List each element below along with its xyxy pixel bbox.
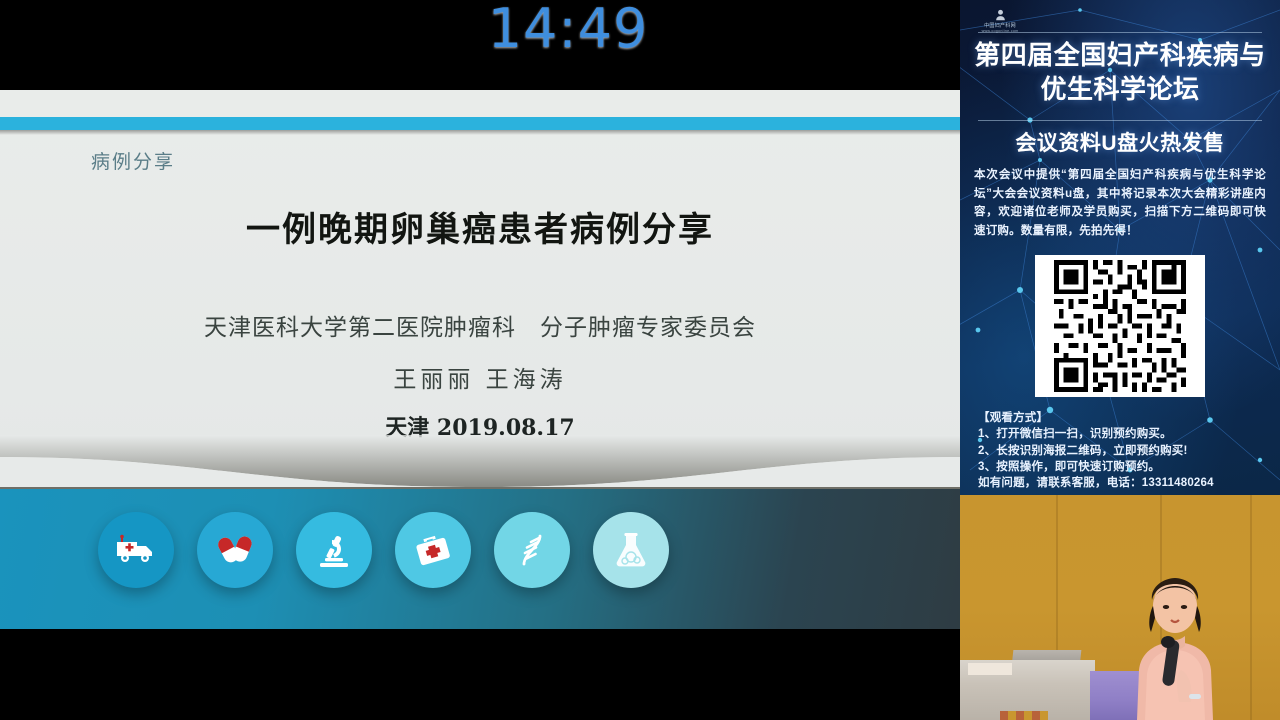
how-to-line: 2、长按识别海报二维码，立即预约购买! <box>978 443 1274 459</box>
slide-kicker: 病例分享 <box>91 147 175 174</box>
ambulance-icon <box>98 512 174 588</box>
stream-page: 病例分享 一例晚期卵巢癌患者病例分享 天津医科大学第二医院肿瘤科 分子肿瘤专家委… <box>0 0 1280 720</box>
slide-organization: 天津医科大学第二医院肿瘤科 分子肿瘤专家委员会 <box>0 308 960 342</box>
podium-decor <box>1000 711 1048 720</box>
first-aid-kit-icon <box>395 512 471 588</box>
slide-accent-rule <box>0 117 960 130</box>
promo-poster: 中国妇产科网 www.cogonline.com 第四届全国妇产科疾病与优生科学… <box>960 0 1280 495</box>
logo-mark-icon <box>993 8 1008 23</box>
how-to-line: 3、按照操作，即可快速订购预约。 <box>978 459 1274 475</box>
promo-subtitle: 会议资料U盘火热发售 <box>970 127 1270 157</box>
how-to-line: 如有问题，请联系客服，电话：13311480264 <box>978 475 1274 491</box>
promo-title: 第四届全国妇产科疾病与优生科学论坛 <box>970 38 1270 107</box>
how-to-line: 【观看方式】 <box>978 410 1274 426</box>
how-to-line: 1、打开微信扫一扫，识别预约购买。 <box>978 426 1274 442</box>
podium-paper <box>968 663 1012 675</box>
slide-video-area[interactable]: 病例分享 一例晚期卵巢癌患者病例分享 天津医科大学第二医院肿瘤科 分子肿瘤专家委… <box>0 0 960 720</box>
presentation-slide: 病例分享 一例晚期卵巢癌患者病例分享 天津医科大学第二医院肿瘤科 分子肿瘤专家委… <box>0 90 960 629</box>
speaker-camera-feed[interactable] <box>960 495 1280 720</box>
slide-presenters: 王丽丽 王海涛 <box>0 360 960 394</box>
slide-icon-row <box>98 512 718 612</box>
flask-icon <box>593 512 669 588</box>
microscope-icon <box>296 512 372 588</box>
qr-code-image <box>1035 255 1205 397</box>
promo-sidebar: 中国妇产科网 www.cogonline.com 第四届全国妇产科疾病与优生科学… <box>960 0 1280 720</box>
slide-accent-rule-shadow <box>0 130 960 135</box>
promo-divider-mid <box>978 120 1262 121</box>
dna-icon <box>494 512 570 588</box>
speaker-person <box>1115 570 1235 720</box>
promo-how-to: 【观看方式】 1、打开微信扫一扫，识别预约购买。 2、长按识别海报二维码，立即预… <box>978 410 1274 492</box>
promo-divider-top <box>978 32 1262 33</box>
promo-body-text: 本次会议中提供“第四届全国妇产科疾病与优生科学论坛”大会会议资料u盘，其中将记录… <box>974 166 1266 241</box>
slide-wave-decoration <box>0 435 960 495</box>
slide-title: 一例晚期卵巢癌患者病例分享 <box>0 202 960 251</box>
qr-code[interactable] <box>1035 255 1205 397</box>
stream-clock: 14:49 <box>88 0 960 60</box>
pills-icon <box>197 512 273 588</box>
